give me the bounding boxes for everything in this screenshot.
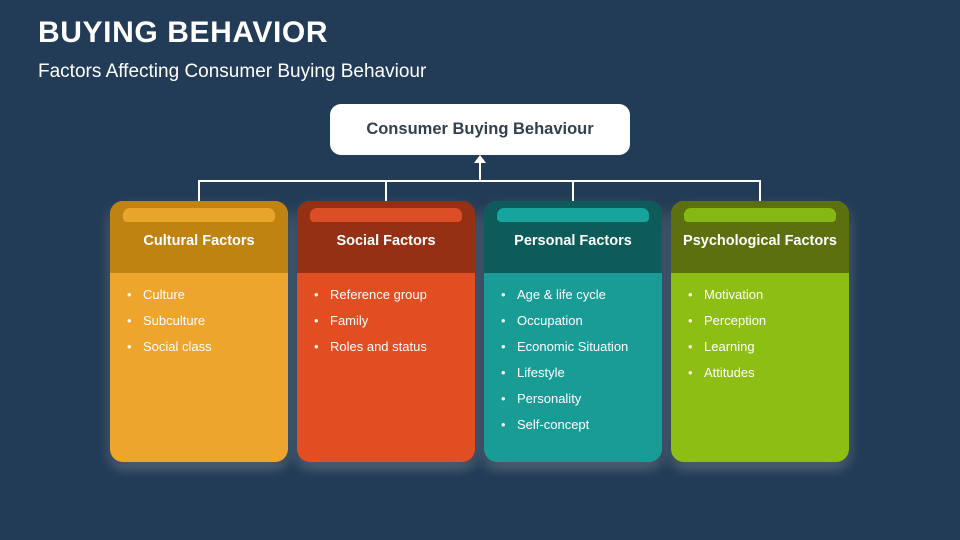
page-title: BUYING BEHAVIOR bbox=[38, 16, 328, 50]
list-item-label: Self-concept bbox=[517, 416, 589, 433]
bullet-dot-icon: • bbox=[685, 286, 704, 303]
list-item-label: Personality bbox=[517, 390, 581, 407]
connector-drop-4 bbox=[759, 180, 761, 202]
bullet-dot-icon: • bbox=[498, 416, 517, 433]
bullet-dot-icon: • bbox=[124, 312, 143, 329]
connector-drop-2 bbox=[385, 180, 387, 202]
bullet-dot-icon: • bbox=[498, 338, 517, 355]
list-item: •Subculture bbox=[124, 312, 278, 329]
bullet-dot-icon: • bbox=[685, 312, 704, 329]
list-item: •Family bbox=[311, 312, 465, 329]
card-header: Social Factors bbox=[297, 201, 475, 273]
connector-stem-vertical bbox=[479, 160, 481, 181]
list-item: •Culture bbox=[124, 286, 278, 303]
card-tab-accent bbox=[123, 208, 275, 222]
card-bullet-list: •Culture•Subculture•Social class bbox=[110, 273, 288, 462]
list-item: •Reference group bbox=[311, 286, 465, 303]
factor-card-personal[interactable]: Personal Factors •Age & life cycle•Occup… bbox=[484, 201, 662, 462]
connector-drop-3 bbox=[572, 180, 574, 202]
bullet-dot-icon: • bbox=[685, 364, 704, 381]
card-title: Social Factors bbox=[297, 233, 475, 249]
list-item-label: Lifestyle bbox=[517, 364, 565, 381]
list-item: •Social class bbox=[124, 338, 278, 355]
slide-canvas: BUYING BEHAVIOR Factors Affecting Consum… bbox=[0, 0, 960, 540]
factor-card-cultural[interactable]: Cultural Factors •Culture•Subculture•Soc… bbox=[110, 201, 288, 462]
bullet-dot-icon: • bbox=[685, 338, 704, 355]
list-item-label: Subculture bbox=[143, 312, 205, 329]
factor-card-social[interactable]: Social Factors •Reference group•Family•R… bbox=[297, 201, 475, 462]
card-title: Psychological Factors bbox=[671, 233, 849, 249]
list-item-label: Occupation bbox=[517, 312, 583, 329]
list-item-label: Culture bbox=[143, 286, 185, 303]
bullet-dot-icon: • bbox=[498, 390, 517, 407]
card-tab-accent bbox=[497, 208, 649, 222]
connector-bus-horizontal bbox=[199, 180, 761, 182]
list-item: •Age & life cycle bbox=[498, 286, 652, 303]
list-item: •Attitudes bbox=[685, 364, 839, 381]
list-item: •Economic Situation bbox=[498, 338, 652, 355]
list-item-label: Economic Situation bbox=[517, 338, 628, 355]
list-item-label: Attitudes bbox=[704, 364, 755, 381]
list-item-label: Perception bbox=[704, 312, 766, 329]
card-tab-accent bbox=[310, 208, 462, 222]
list-item-label: Motivation bbox=[704, 286, 763, 303]
list-item: •Lifestyle bbox=[498, 364, 652, 381]
bullet-dot-icon: • bbox=[311, 312, 330, 329]
card-title: Personal Factors bbox=[484, 233, 662, 249]
bullet-dot-icon: • bbox=[498, 364, 517, 381]
card-bullet-list: •Age & life cycle•Occupation•Economic Si… bbox=[484, 273, 662, 462]
bullet-dot-icon: • bbox=[311, 286, 330, 303]
list-item-label: Roles and status bbox=[330, 338, 427, 355]
list-item-label: Age & life cycle bbox=[517, 286, 606, 303]
list-item: •Perception bbox=[685, 312, 839, 329]
root-node-label: Consumer Buying Behaviour bbox=[366, 120, 593, 139]
list-item: •Occupation bbox=[498, 312, 652, 329]
page-subtitle: Factors Affecting Consumer Buying Behavi… bbox=[38, 61, 426, 83]
bullet-dot-icon: • bbox=[124, 286, 143, 303]
list-item: •Self-concept bbox=[498, 416, 652, 433]
bullet-dot-icon: • bbox=[498, 286, 517, 303]
card-header: Cultural Factors bbox=[110, 201, 288, 273]
root-node-consumer-buying-behaviour[interactable]: Consumer Buying Behaviour bbox=[330, 104, 630, 155]
bullet-dot-icon: • bbox=[498, 312, 517, 329]
list-item-label: Learning bbox=[704, 338, 755, 355]
list-item: •Roles and status bbox=[311, 338, 465, 355]
bullet-dot-icon: • bbox=[311, 338, 330, 355]
card-bullet-list: •Reference group•Family•Roles and status bbox=[297, 273, 475, 462]
factor-card-psychological[interactable]: Psychological Factors •Motivation•Percep… bbox=[671, 201, 849, 462]
card-bullet-list: •Motivation•Perception•Learning•Attitude… bbox=[671, 273, 849, 462]
list-item-label: Family bbox=[330, 312, 368, 329]
list-item: •Personality bbox=[498, 390, 652, 407]
card-header: Personal Factors bbox=[484, 201, 662, 273]
bullet-dot-icon: • bbox=[124, 338, 143, 355]
list-item: •Motivation bbox=[685, 286, 839, 303]
card-header: Psychological Factors bbox=[671, 201, 849, 273]
list-item-label: Social class bbox=[143, 338, 212, 355]
card-title: Cultural Factors bbox=[110, 233, 288, 249]
card-tab-accent bbox=[684, 208, 836, 222]
list-item: •Learning bbox=[685, 338, 839, 355]
connector-drop-1 bbox=[198, 180, 200, 202]
list-item-label: Reference group bbox=[330, 286, 427, 303]
